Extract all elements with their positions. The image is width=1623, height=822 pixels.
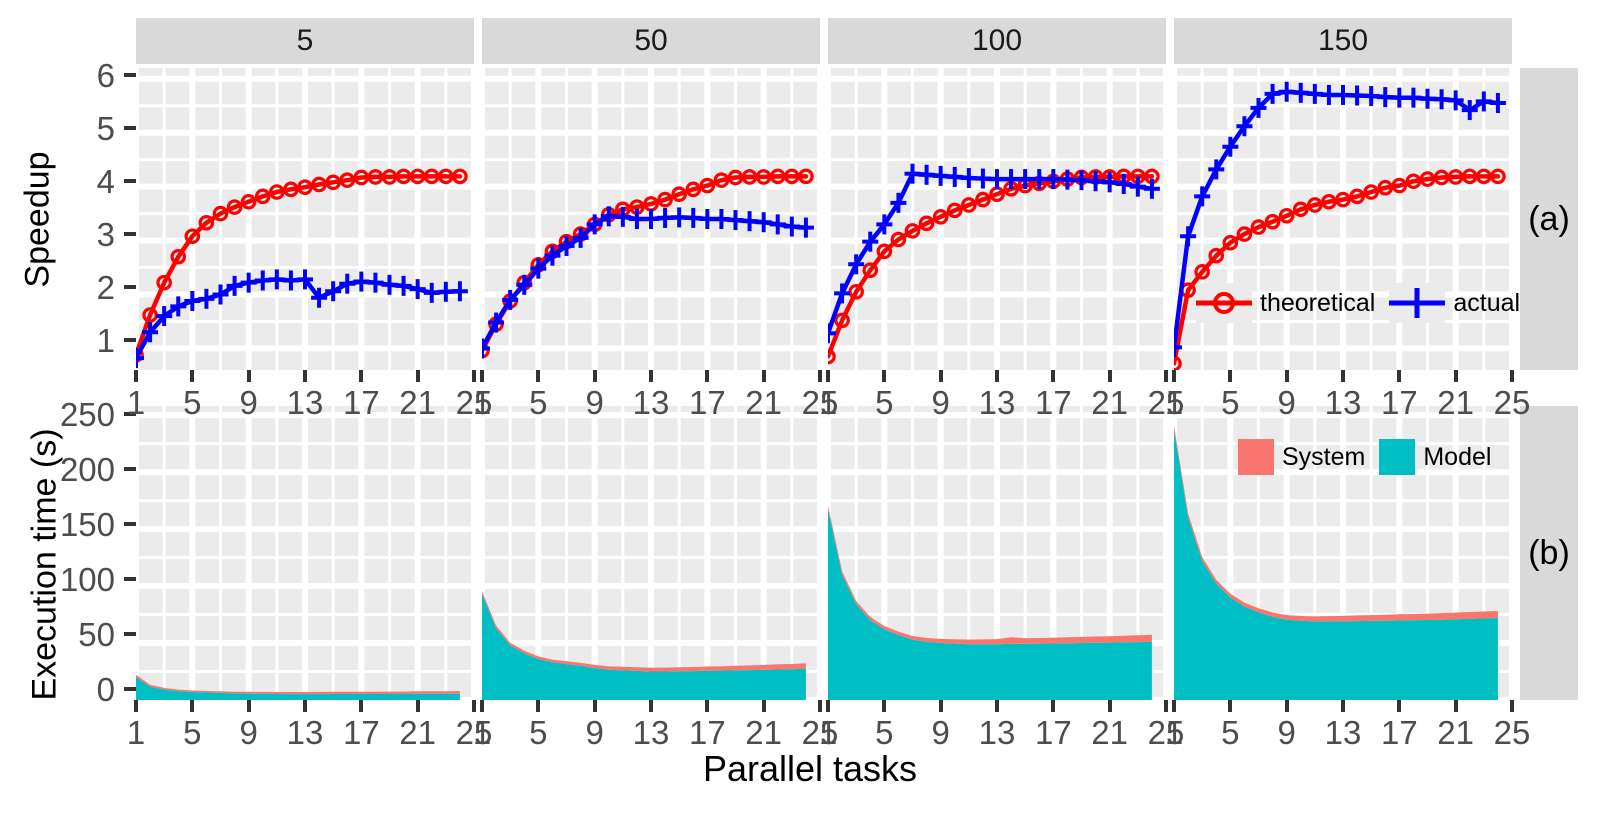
xtickmark bbox=[1051, 370, 1055, 382]
xtickmark bbox=[472, 370, 476, 382]
xtickmark bbox=[818, 700, 822, 712]
xtickmark bbox=[1108, 700, 1112, 712]
xtickmark bbox=[134, 370, 138, 382]
xtickmark bbox=[762, 700, 766, 712]
panel-exectime-100 bbox=[828, 406, 1166, 700]
xtickmark bbox=[247, 370, 251, 382]
xtickmark bbox=[939, 700, 943, 712]
xtickmark bbox=[536, 370, 540, 382]
xtickmark bbox=[882, 700, 886, 712]
xtickmark bbox=[995, 700, 999, 712]
x-axis-label: Parallel tasks bbox=[130, 748, 1490, 790]
legend-item-model[interactable]: Model bbox=[1379, 439, 1505, 475]
xtickmark bbox=[649, 700, 653, 712]
xtickmark bbox=[1164, 370, 1168, 382]
ytick-top-2: 2 bbox=[60, 269, 115, 307]
xtickmark bbox=[762, 370, 766, 382]
xtickmark bbox=[1397, 700, 1401, 712]
panel-speedup-150 bbox=[1174, 68, 1512, 370]
xtickmark bbox=[882, 370, 886, 382]
ytickmark-bot-50 bbox=[124, 632, 136, 636]
panel-exectime-5 bbox=[136, 406, 474, 700]
ytickmark-bot-0 bbox=[124, 687, 136, 691]
xtickmark bbox=[1285, 700, 1289, 712]
xtickmark bbox=[705, 370, 709, 382]
xtickmark bbox=[359, 700, 363, 712]
xtickmark bbox=[649, 370, 653, 382]
ytick-bot-150: 150 bbox=[30, 506, 115, 544]
xtickmark bbox=[247, 700, 251, 712]
figure-root: Speedup Execution time (s) Parallel task… bbox=[0, 0, 1623, 822]
legend-label-theoretical: theoretical bbox=[1260, 289, 1375, 318]
row-strip-b: (b) bbox=[1520, 406, 1578, 700]
legend-key-actual bbox=[1389, 283, 1445, 323]
legend-item-theoretical[interactable]: theoretical bbox=[1196, 283, 1389, 323]
xtickmark bbox=[818, 370, 822, 382]
panel-speedup-50 bbox=[482, 68, 820, 370]
ytickmark-top-2 bbox=[124, 285, 136, 289]
xtickmark bbox=[593, 370, 597, 382]
xtickmark bbox=[303, 370, 307, 382]
xtickmark bbox=[480, 370, 484, 382]
xtickmark bbox=[1454, 370, 1458, 382]
ytick-top-4: 4 bbox=[60, 163, 115, 201]
xtickmark bbox=[303, 700, 307, 712]
panel-speedup-100 bbox=[828, 68, 1166, 370]
xtick-label: 25 bbox=[1472, 384, 1552, 422]
xtickmark bbox=[1397, 370, 1401, 382]
xtickmark bbox=[1341, 370, 1345, 382]
facet-strip-150: 150 bbox=[1174, 18, 1512, 64]
legend-speedup: theoretical actual bbox=[1196, 283, 1534, 323]
xtickmark bbox=[995, 370, 999, 382]
xtickmark bbox=[472, 700, 476, 712]
xtickmark bbox=[134, 700, 138, 712]
legend-key-theoretical bbox=[1196, 283, 1252, 323]
ytickmark-top-5 bbox=[124, 126, 136, 130]
ytickmark-bot-150 bbox=[124, 522, 136, 526]
facet-strip-100: 100 bbox=[828, 18, 1166, 64]
ytick-top-6: 6 bbox=[60, 57, 115, 95]
ytick-bot-0: 0 bbox=[30, 671, 115, 709]
xtickmark bbox=[1051, 700, 1055, 712]
xtickmark bbox=[1341, 700, 1345, 712]
ytickmark-top-1 bbox=[124, 338, 136, 342]
legend-item-system[interactable]: System bbox=[1238, 439, 1379, 475]
xtickmark bbox=[1510, 370, 1514, 382]
xtickmark bbox=[705, 700, 709, 712]
ytickmark-top-6 bbox=[124, 73, 136, 77]
xtickmark bbox=[190, 700, 194, 712]
facet-strip-5: 5 bbox=[136, 18, 474, 64]
xtickmark bbox=[1228, 700, 1232, 712]
ytick-top-5: 5 bbox=[60, 110, 115, 148]
legend-item-actual[interactable]: actual bbox=[1389, 283, 1534, 323]
legend-label-actual: actual bbox=[1453, 289, 1520, 318]
legend-label-model: Model bbox=[1423, 443, 1491, 472]
xtickmark bbox=[416, 700, 420, 712]
xtickmark bbox=[536, 700, 540, 712]
xtickmark bbox=[1285, 370, 1289, 382]
xtickmark bbox=[826, 370, 830, 382]
facet-strip-50: 50 bbox=[482, 18, 820, 64]
legend-exectime: System Model bbox=[1238, 439, 1505, 475]
xtickmark bbox=[1164, 700, 1168, 712]
ytickmark-bot-200 bbox=[124, 467, 136, 471]
xtickmark bbox=[1228, 370, 1232, 382]
panel-exectime-50 bbox=[482, 406, 820, 700]
xtickmark bbox=[1454, 700, 1458, 712]
ytickmark-bot-100 bbox=[124, 577, 136, 581]
ytick-bot-100: 100 bbox=[30, 561, 115, 599]
xtickmark bbox=[1108, 370, 1112, 382]
xtick-label: 25 bbox=[1472, 714, 1552, 752]
ytickmark-top-4 bbox=[124, 179, 136, 183]
y-axis-label-speedup: Speedup bbox=[19, 130, 58, 310]
legend-label-system: System bbox=[1282, 443, 1365, 472]
ytick-bot-50: 50 bbox=[30, 616, 115, 654]
xtickmark bbox=[359, 370, 363, 382]
xtickmark bbox=[593, 700, 597, 712]
ytick-top-1: 1 bbox=[60, 322, 115, 360]
xtickmark bbox=[826, 700, 830, 712]
ytick-top-3: 3 bbox=[60, 216, 115, 254]
xtickmark bbox=[190, 370, 194, 382]
xtickmark bbox=[1172, 700, 1176, 712]
xtickmark bbox=[416, 370, 420, 382]
xtickmark bbox=[939, 370, 943, 382]
legend-swatch-model bbox=[1379, 439, 1415, 475]
row-strip-a: (a) bbox=[1520, 68, 1578, 370]
ytickmark-top-3 bbox=[124, 232, 136, 236]
panel-speedup-5 bbox=[136, 68, 474, 370]
xtickmark bbox=[1510, 700, 1514, 712]
legend-swatch-system bbox=[1238, 439, 1274, 475]
xtickmark bbox=[480, 700, 484, 712]
xtickmark bbox=[1172, 370, 1176, 382]
ytick-bot-200: 200 bbox=[30, 451, 115, 489]
